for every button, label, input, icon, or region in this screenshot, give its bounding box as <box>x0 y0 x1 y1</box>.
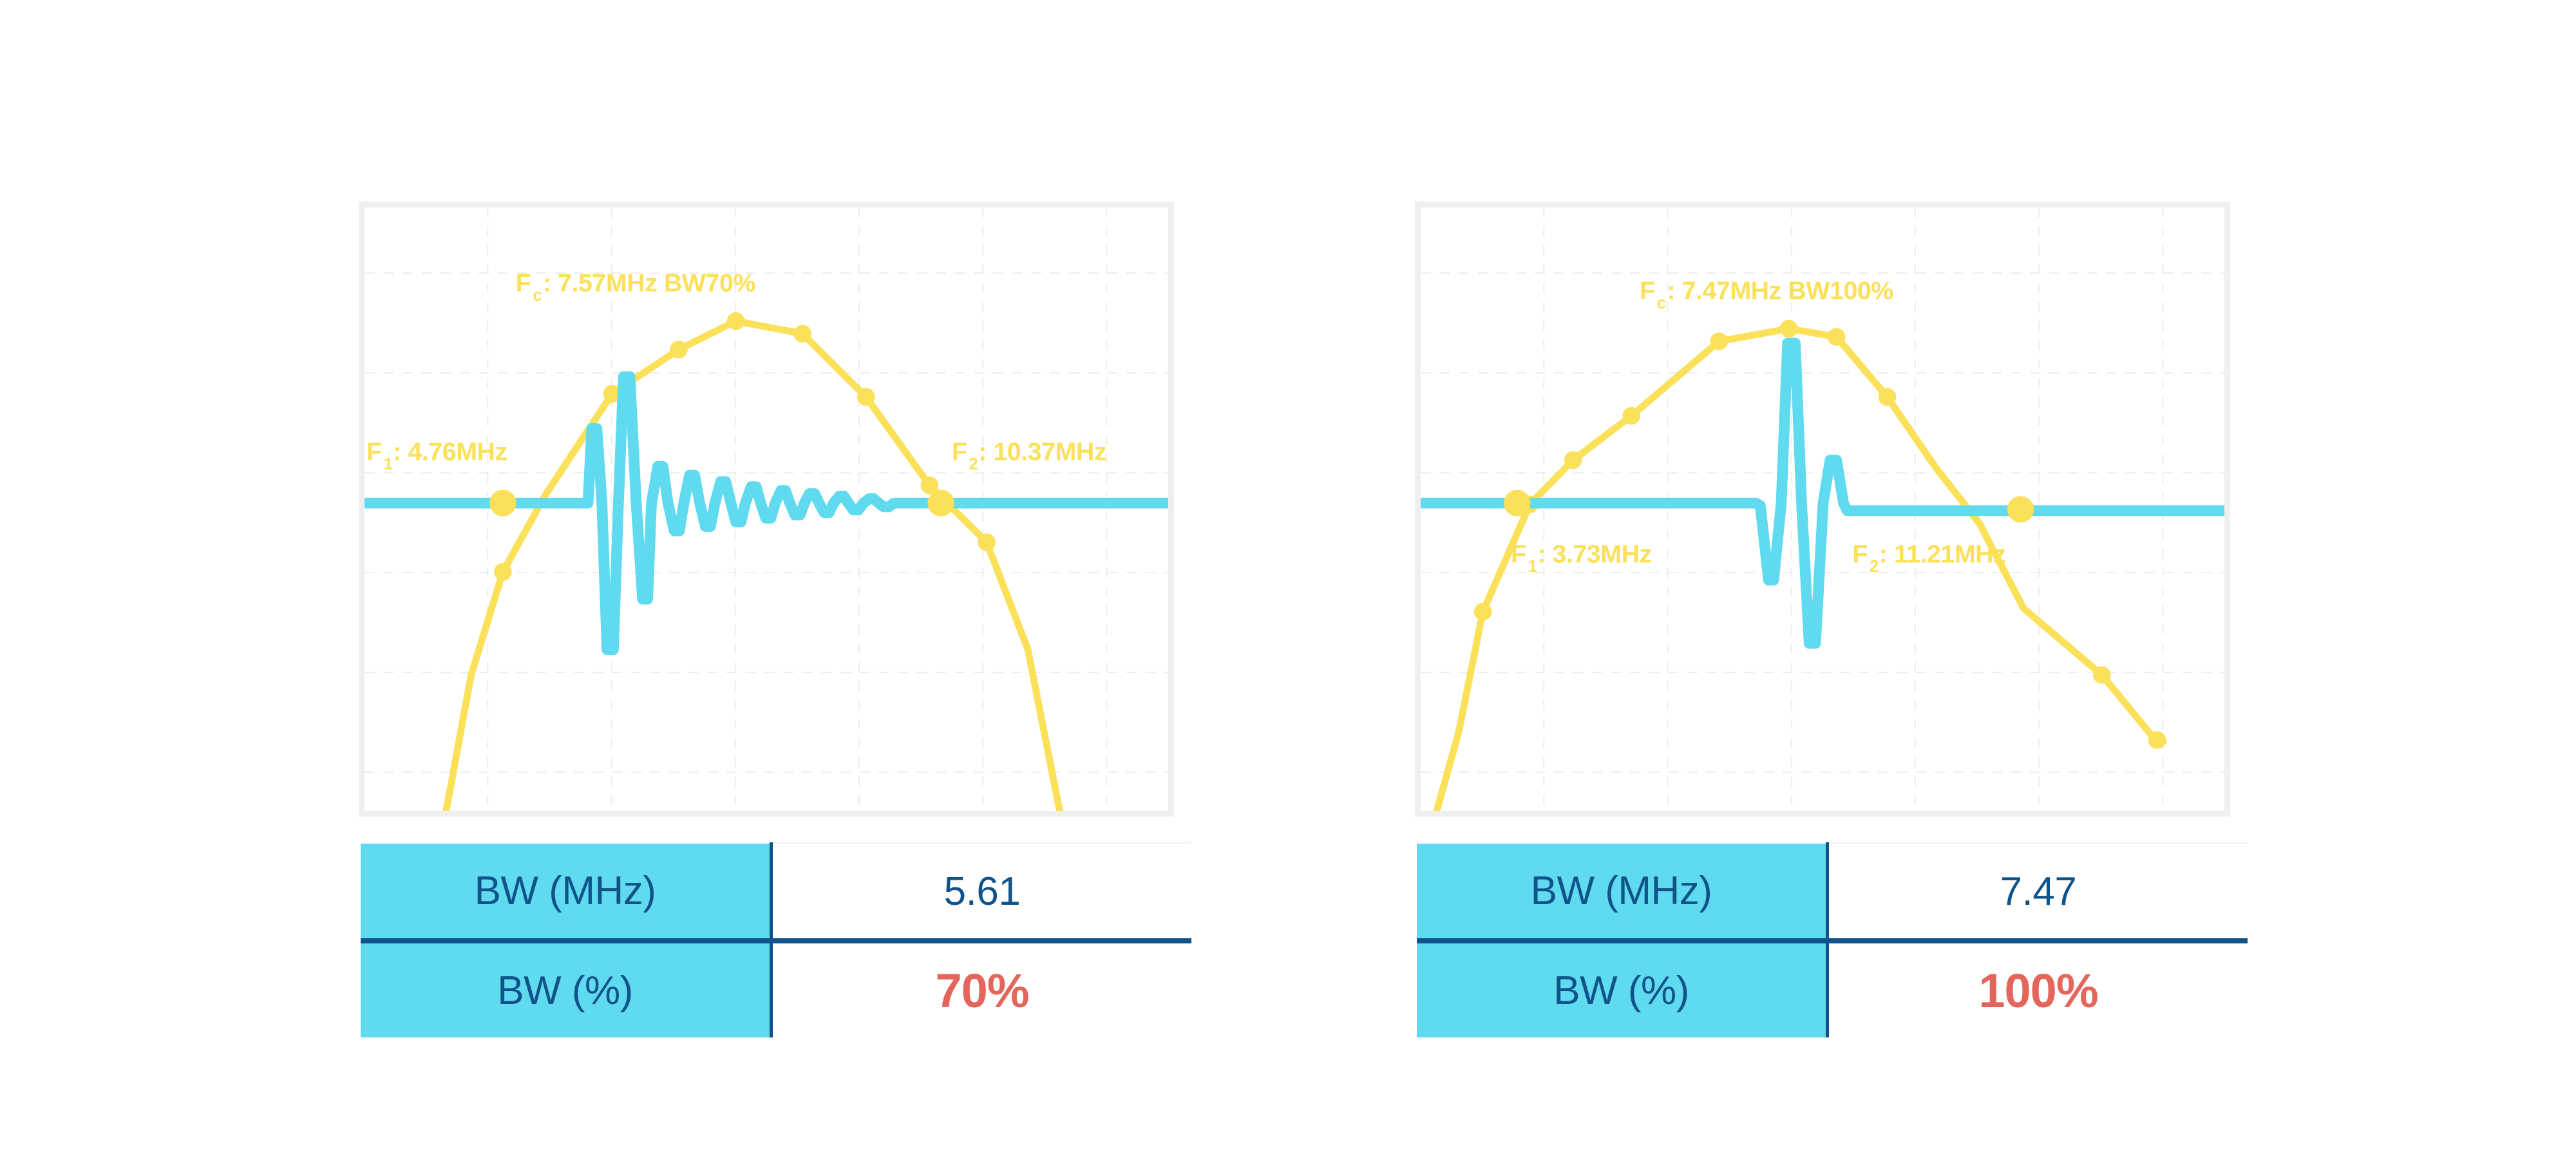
panel-broadband: F c : 7.47MHz BW100% F 1 : 3.73MHz F 2 :… <box>1307 0 2241 1154</box>
annotation-fc-left-text: : 7.57MHz BW70% <box>543 269 755 298</box>
bandwidth-table-right: BW (MHz) 7.47 BW (%) 100% <box>1417 842 2248 1037</box>
bandwidth-table-left: BW (MHz) 5.61 BW (%) 70% <box>361 842 1191 1037</box>
annotation-f1-left-sub: 1 <box>384 455 393 473</box>
annotation-f2-right-sub: 2 <box>1870 558 1879 576</box>
annotation-fc-left: F c : 7.57MHz BW70% <box>516 269 755 305</box>
annotation-f1-left-prefix: F <box>366 438 382 466</box>
annotation-f1-right-prefix: F <box>1511 540 1526 568</box>
bw-mhz-value-cell-left: 5.61 <box>772 844 1192 941</box>
spectrum-points-left <box>494 312 996 581</box>
chart-frame-left: F c : 7.57MHz BW70% F 1 : 4.76MHz F 2 : … <box>359 202 1174 817</box>
table-row: BW (MHz) 5.61 <box>361 844 1191 941</box>
bw-pct-value-left: 70% <box>935 964 1028 1017</box>
bw-mhz-label-left: BW (MHz) <box>361 844 772 941</box>
bw-mhz-label-right: BW (MHz) <box>1417 844 1828 941</box>
annotation-f2-left-text: : 10.37MHz <box>978 438 1106 466</box>
bw-pct-value-cell-right: 100% <box>1828 941 2248 1037</box>
annotation-f1-right-sub: 1 <box>1528 558 1537 576</box>
annotation-f2-right: F 2 : 11.21MHz <box>1852 540 2005 576</box>
annotation-f1-left-text: : 4.76MHz <box>393 438 507 466</box>
spectrum-curve-left <box>444 321 1059 811</box>
annotation-f1-right: F 1 : 3.73MHz <box>1511 540 1652 576</box>
table-row: BW (MHz) 7.47 <box>1417 844 2248 941</box>
annotation-f2-left-sub: 2 <box>969 455 978 473</box>
chart-frame-right: F c : 7.47MHz BW100% F 1 : 3.73MHz F 2 :… <box>1415 202 2230 817</box>
bw-mhz-value-right: 7.47 <box>2000 869 2077 914</box>
annotation-fc-right-text: : 7.47MHz BW100% <box>1667 276 1893 305</box>
annotation-fc-right-prefix: F <box>1640 276 1655 305</box>
bw-mhz-value-left: 5.61 <box>944 869 1021 914</box>
table-row: BW (%) 100% <box>1417 941 2248 1037</box>
f2-marker-left <box>927 490 954 516</box>
annotation-fc-right-sub: c <box>1657 294 1666 312</box>
screenshot-root: F c : 7.57MHz BW70% F 1 : 4.76MHz F 2 : … <box>0 0 2576 1154</box>
annotation-f2-left-prefix: F <box>952 438 967 466</box>
bw-pct-value-cell-left: 70% <box>772 941 1192 1037</box>
annotation-f2-left: F 2 : 10.37MHz <box>952 438 1106 474</box>
f1-marker-left <box>489 490 516 516</box>
f1-marker-right <box>1504 490 1530 516</box>
bw-pct-label-right: BW (%) <box>1417 941 1828 1037</box>
panel-narrowband: F c : 7.57MHz BW70% F 1 : 4.76MHz F 2 : … <box>251 0 1185 1154</box>
bw-pct-label-left: BW (%) <box>361 941 772 1037</box>
table-row: BW (%) 70% <box>361 941 1191 1037</box>
annotation-f2-right-prefix: F <box>1852 540 1868 568</box>
chart-right-svg: F c : 7.47MHz BW100% F 1 : 3.73MHz F 2 :… <box>1421 207 2224 811</box>
chart-left-svg: F c : 7.57MHz BW70% F 1 : 4.76MHz F 2 : … <box>365 207 1168 811</box>
annotation-fc-left-prefix: F <box>516 269 531 298</box>
waveform-left <box>365 377 1168 650</box>
f2-marker-right <box>2007 496 2034 522</box>
annotation-f1-left: F 1 : 4.76MHz <box>366 438 507 474</box>
annotation-fc-right: F c : 7.47MHz BW100% <box>1640 276 1893 312</box>
bw-pct-value-right: 100% <box>1978 964 2098 1017</box>
annotation-f1-right-text: : 3.73MHz <box>1537 540 1651 568</box>
annotation-fc-left-sub: c <box>533 287 542 305</box>
bw-mhz-value-cell-right: 7.47 <box>1828 844 2248 941</box>
annotation-f2-right-text: : 11.21MHz <box>1879 540 2006 568</box>
